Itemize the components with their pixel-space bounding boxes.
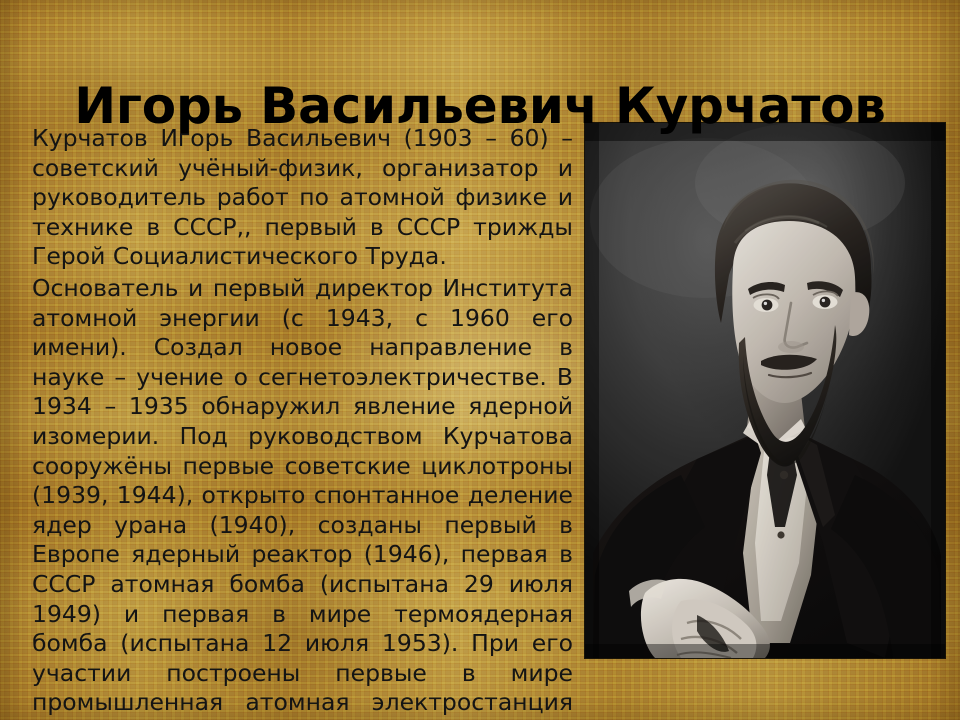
portrait-photo <box>585 123 945 658</box>
paragraph-2: Основатель и первый директор Института а… <box>32 274 573 720</box>
paragraph-1: Курчатов Игорь Васильевич (1903 – 60) – … <box>32 124 573 272</box>
page-title: Игорь Васильевич Курчатов <box>0 77 960 135</box>
slide-canvas: Игорь Васильевич Курчатов <box>0 0 960 720</box>
biography-text: Курчатов Игорь Васильевич (1903 – 60) – … <box>32 124 573 720</box>
portrait-illustration <box>585 123 945 658</box>
